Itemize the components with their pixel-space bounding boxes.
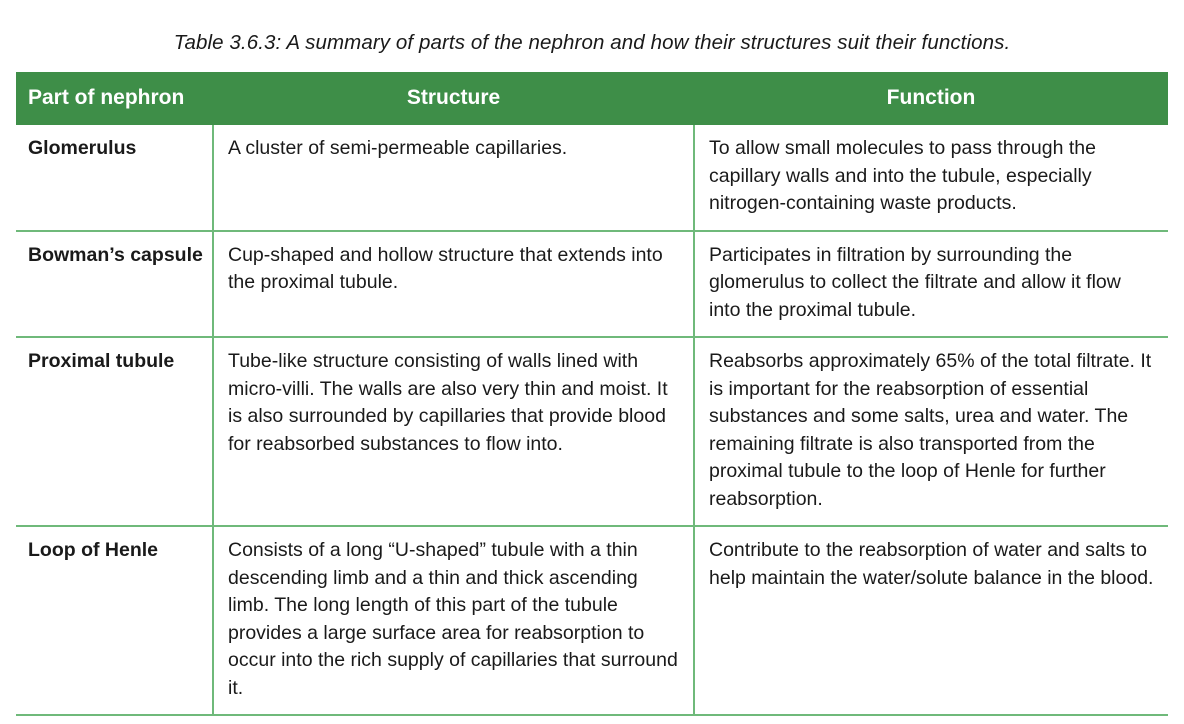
cell-part-of-nephron: Bowman’s capsule bbox=[16, 231, 213, 338]
column-header-part-of-nephron: Part of nephron bbox=[16, 72, 213, 125]
cell-text: To allow small molecules to pass through… bbox=[709, 135, 1156, 218]
cell-text: Loop of Henle bbox=[28, 537, 206, 565]
cell-structure: Consists of a long “U-shaped” tubule wit… bbox=[213, 526, 694, 715]
table-row: Loop of Henle Consists of a long “U-shap… bbox=[16, 526, 1168, 715]
nephron-summary-table: Part of nephron Structure Function Glome… bbox=[16, 72, 1168, 716]
column-header-function: Function bbox=[694, 72, 1168, 125]
table-row: Proximal tubule Tube-like structure cons… bbox=[16, 337, 1168, 526]
table-container: Part of nephron Structure Function Glome… bbox=[16, 72, 1168, 716]
cell-structure: Tube-like structure consisting of walls … bbox=[213, 337, 694, 526]
cell-part-of-nephron: Proximal tubule bbox=[16, 337, 213, 526]
cell-text: Glomerulus bbox=[28, 135, 206, 163]
cell-structure: Cup-shaped and hollow structure that ext… bbox=[213, 231, 694, 338]
cell-text: Tube-like structure consisting of walls … bbox=[228, 348, 681, 458]
page-root: Table 3.6.3: A summary of parts of the n… bbox=[0, 0, 1184, 724]
cell-text: Reabsorbs approximately 65% of the total… bbox=[709, 348, 1156, 513]
cell-text: Participates in filtration by surroundin… bbox=[709, 242, 1156, 325]
table-caption: Table 3.6.3: A summary of parts of the n… bbox=[0, 30, 1184, 56]
cell-text: Bowman’s capsule bbox=[28, 242, 206, 270]
table-row: Glomerulus A cluster of semi-permeable c… bbox=[16, 125, 1168, 231]
table-header: Part of nephron Structure Function bbox=[16, 72, 1168, 125]
cell-part-of-nephron: Loop of Henle bbox=[16, 526, 213, 715]
table-body: Glomerulus A cluster of semi-permeable c… bbox=[16, 125, 1168, 715]
cell-function: Contribute to the reabsorption of water … bbox=[694, 526, 1168, 715]
cell-text: Contribute to the reabsorption of water … bbox=[709, 537, 1156, 592]
cell-part-of-nephron: Glomerulus bbox=[16, 125, 213, 231]
cell-function: To allow small molecules to pass through… bbox=[694, 125, 1168, 231]
cell-text: Cup-shaped and hollow structure that ext… bbox=[228, 242, 681, 297]
table-header-row: Part of nephron Structure Function bbox=[16, 72, 1168, 125]
column-header-structure: Structure bbox=[213, 72, 694, 125]
cell-function: Reabsorbs approximately 65% of the total… bbox=[694, 337, 1168, 526]
cell-structure: A cluster of semi-permeable capillaries. bbox=[213, 125, 694, 231]
cell-function: Participates in filtration by surroundin… bbox=[694, 231, 1168, 338]
cell-text: Consists of a long “U-shaped” tubule wit… bbox=[228, 537, 681, 702]
cell-text: Proximal tubule bbox=[28, 348, 206, 376]
table-row: Bowman’s capsule Cup-shaped and hollow s… bbox=[16, 231, 1168, 338]
cell-text: A cluster of semi-permeable capillaries. bbox=[228, 135, 681, 163]
